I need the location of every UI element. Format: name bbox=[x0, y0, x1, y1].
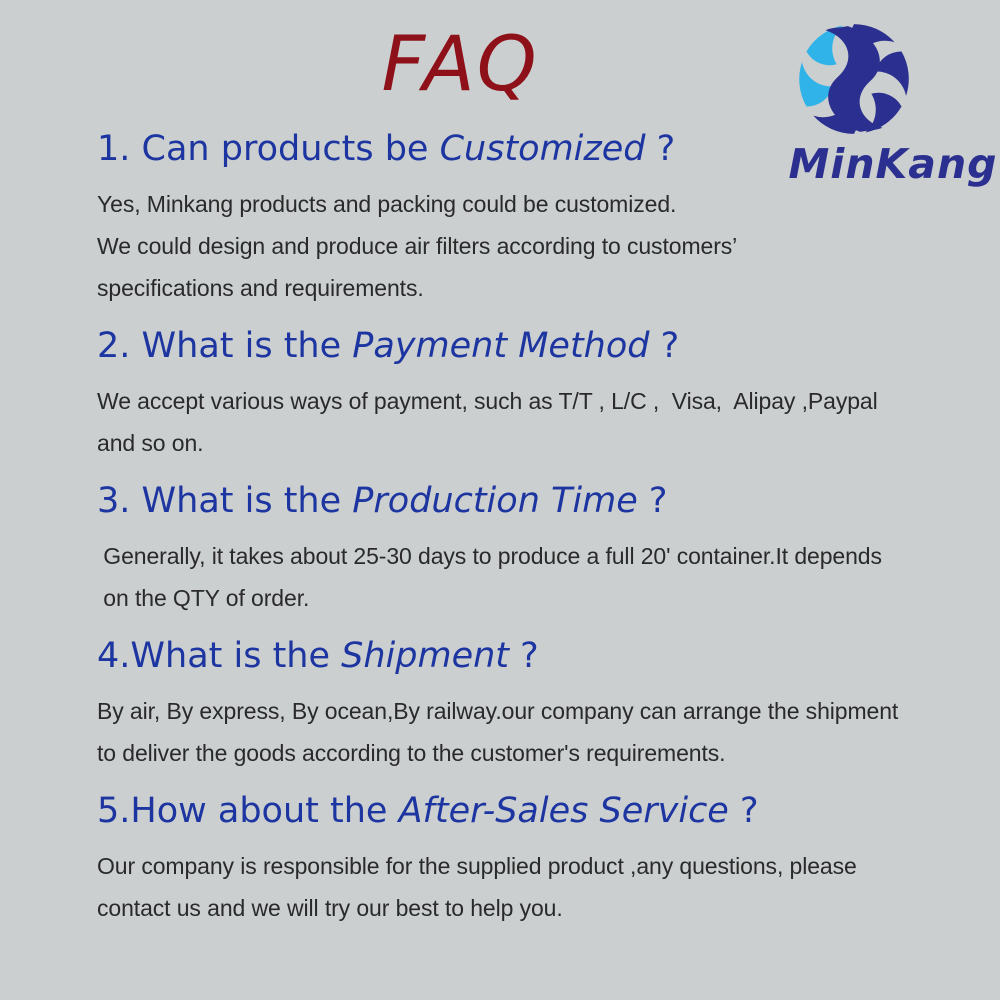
faq-question-1-tail: ? bbox=[646, 129, 676, 169]
faq-question-4-lead: What is the bbox=[130, 636, 341, 676]
faq-question-2-tail: ? bbox=[649, 326, 679, 366]
faq-question-5-lead: How about the bbox=[130, 791, 398, 831]
faq-item-1: 1. Can products be Customized ? Yes, Min… bbox=[97, 132, 987, 309]
faq-question-2-number: 2. bbox=[97, 326, 142, 366]
faq-question-4-tail: ? bbox=[509, 636, 539, 676]
faq-question-5-emphasis: After-Sales Service bbox=[399, 791, 729, 831]
faq-question-4-emphasis: Shipment bbox=[341, 636, 509, 676]
faq-list: 1. Can products be Customized ? Yes, Min… bbox=[97, 132, 987, 929]
faq-question-5-tail: ? bbox=[729, 791, 759, 831]
faq-question-2-lead: What is the bbox=[142, 326, 353, 366]
faq-question-2-emphasis: Payment Method bbox=[352, 326, 649, 366]
faq-question-2: 2. What is the Payment Method ? bbox=[97, 329, 987, 364]
faq-item-4: 4.What is the Shipment ? By air, By expr… bbox=[97, 639, 987, 774]
faq-question-5-number: 5. bbox=[97, 791, 130, 831]
faq-question-1-emphasis: Customized bbox=[440, 129, 646, 169]
faq-answer-3: Generally, it takes about 25-30 days to … bbox=[97, 535, 987, 619]
faq-item-5: 5.How about the After-Sales Service ? Ou… bbox=[97, 794, 987, 929]
faq-question-5: 5.How about the After-Sales Service ? bbox=[97, 794, 987, 829]
faq-item-3: 3. What is the Production Time ? General… bbox=[97, 484, 987, 619]
minkang-pinwheel-logo-icon bbox=[793, 18, 915, 140]
faq-question-3-number: 3. bbox=[97, 481, 142, 521]
faq-answer-5: Our company is responsible for the suppl… bbox=[97, 845, 987, 929]
faq-answer-1: Yes, Minkang products and packing could … bbox=[97, 183, 987, 309]
faq-question-1: 1. Can products be Customized ? bbox=[97, 132, 987, 167]
faq-question-3-tail: ? bbox=[638, 481, 668, 521]
faq-question-1-number: 1. bbox=[97, 129, 142, 169]
faq-answer-4: By air, By express, By ocean,By railway.… bbox=[97, 690, 987, 774]
faq-question-3: 3. What is the Production Time ? bbox=[97, 484, 987, 519]
faq-question-3-lead: What is the bbox=[142, 481, 353, 521]
faq-item-2: 2. What is the Payment Method ? We accep… bbox=[97, 329, 987, 464]
faq-question-4-number: 4. bbox=[97, 636, 130, 676]
page-title: FAQ bbox=[0, 26, 920, 102]
faq-page: FAQ bbox=[0, 0, 1000, 1000]
faq-answer-2: We accept various ways of payment, such … bbox=[97, 380, 987, 464]
faq-question-1-lead: Can products be bbox=[142, 129, 440, 169]
faq-question-4: 4.What is the Shipment ? bbox=[97, 639, 987, 674]
faq-question-3-emphasis: Production Time bbox=[352, 481, 637, 521]
